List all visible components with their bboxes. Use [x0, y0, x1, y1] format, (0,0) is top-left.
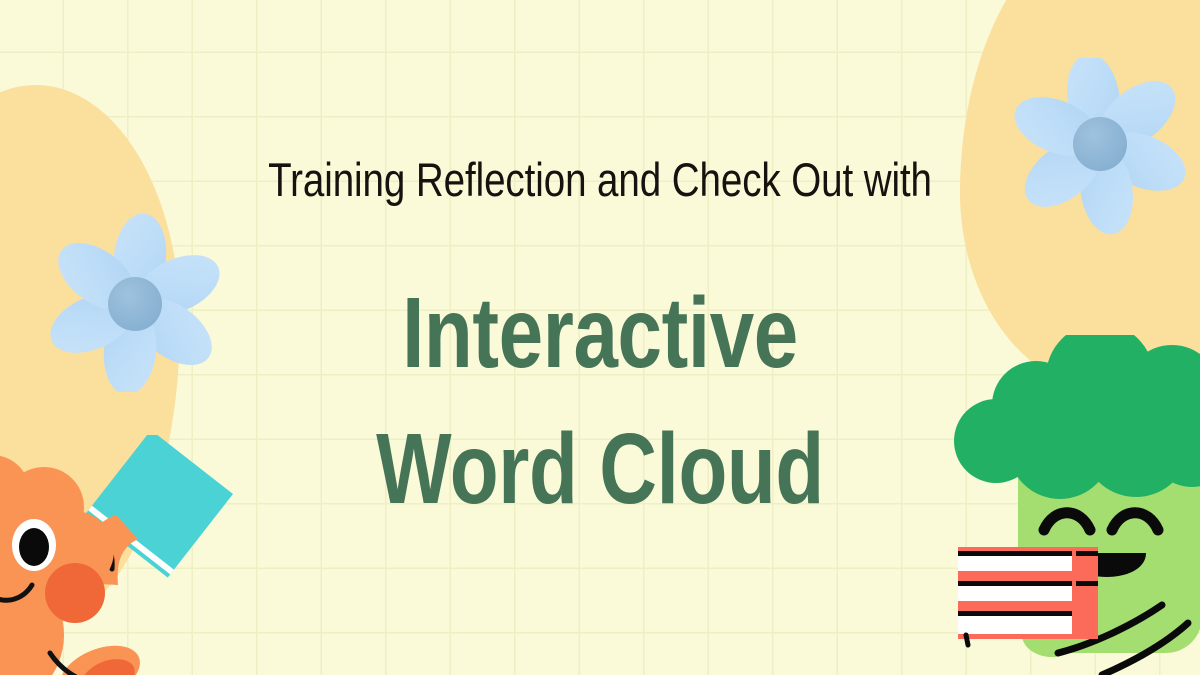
red-book-stack	[958, 547, 1098, 639]
blue-flower-right	[1012, 58, 1192, 238]
slide-canvas: Training Reflection and Check Out with I…	[0, 0, 1200, 675]
cheek-right	[45, 563, 105, 623]
slide-title-line-2: Word Cloud	[120, 401, 1080, 537]
slide-title: Interactive Word Cloud	[120, 265, 1080, 537]
slide-subtitle: Training Reflection and Check Out with	[108, 155, 1092, 204]
eye-right	[12, 519, 56, 571]
slide-title-line-1: Interactive	[120, 265, 1080, 401]
